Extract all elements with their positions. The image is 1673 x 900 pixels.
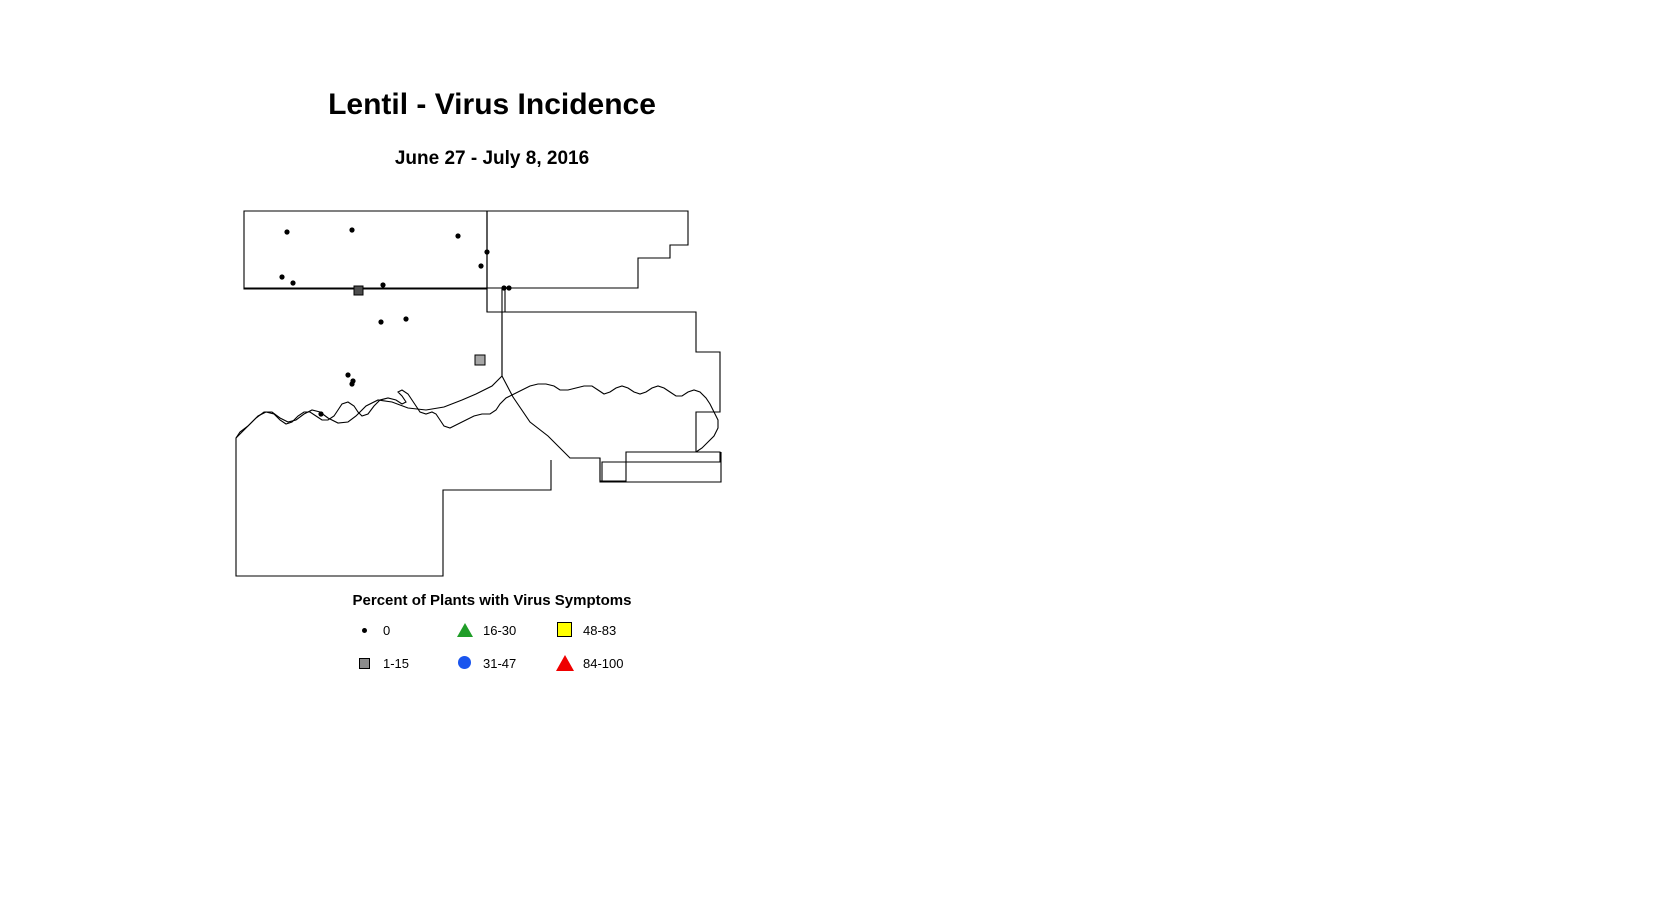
- data-point: [290, 280, 295, 285]
- map-area: [230, 200, 750, 595]
- data-point: [380, 282, 385, 287]
- county-map-svg: [230, 200, 750, 595]
- legend-label: 0: [383, 623, 390, 638]
- data-point: [378, 319, 383, 324]
- data-point-square: [354, 286, 363, 295]
- data-point: [484, 249, 489, 254]
- legend-label: 31-47: [483, 656, 516, 671]
- legend-label: 48-83: [583, 623, 616, 638]
- legend-item-1: 1-15: [355, 653, 409, 673]
- data-point: [501, 285, 506, 290]
- data-point: [478, 263, 483, 268]
- legend-label: 84-100: [583, 656, 623, 671]
- data-point: [318, 411, 323, 416]
- county-outline-southeast-lower: [600, 452, 721, 482]
- legend-title: Percent of Plants with Virus Symptoms: [0, 592, 984, 609]
- data-point: [345, 372, 350, 377]
- data-point: [284, 229, 289, 234]
- data-point: [279, 274, 284, 279]
- data-point: [349, 227, 354, 232]
- figure-root: Lentil - Virus Incidence June 27 - July …: [0, 0, 1673, 900]
- red-triangle-icon: [555, 654, 577, 672]
- data-point: [403, 316, 408, 321]
- gray-square-icon: [355, 654, 377, 672]
- yellow-square-icon: [555, 621, 577, 639]
- county-outline-east: [502, 312, 720, 481]
- county-outline-northeast: [487, 211, 688, 312]
- legend: 0 1-15 16-30 31-47 48-83: [355, 620, 675, 682]
- legend-item-4: 48-83: [555, 620, 616, 640]
- legend-item-3: 31-47: [455, 653, 516, 673]
- page-subtitle: June 27 - July 8, 2016: [0, 148, 984, 170]
- legend-label: 1-15: [383, 656, 409, 671]
- page-title: Lentil - Virus Incidence: [0, 88, 984, 122]
- data-point-markers: [279, 227, 511, 416]
- legend-label: 16-30: [483, 623, 516, 638]
- small-black-dot-icon: [355, 621, 377, 639]
- blue-circle-icon: [455, 654, 477, 672]
- data-point: [506, 285, 511, 290]
- legend-item-0: 0: [355, 620, 390, 640]
- river-boundary: [236, 384, 718, 452]
- data-point: [455, 233, 460, 238]
- county-outline-southwest: [236, 289, 551, 576]
- green-triangle-icon: [455, 621, 477, 639]
- data-point-square: [475, 355, 485, 365]
- legend-item-5: 84-100: [555, 653, 623, 673]
- county-outline-southeast: [602, 452, 720, 481]
- legend-item-2: 16-30: [455, 620, 516, 640]
- data-point: [349, 381, 354, 386]
